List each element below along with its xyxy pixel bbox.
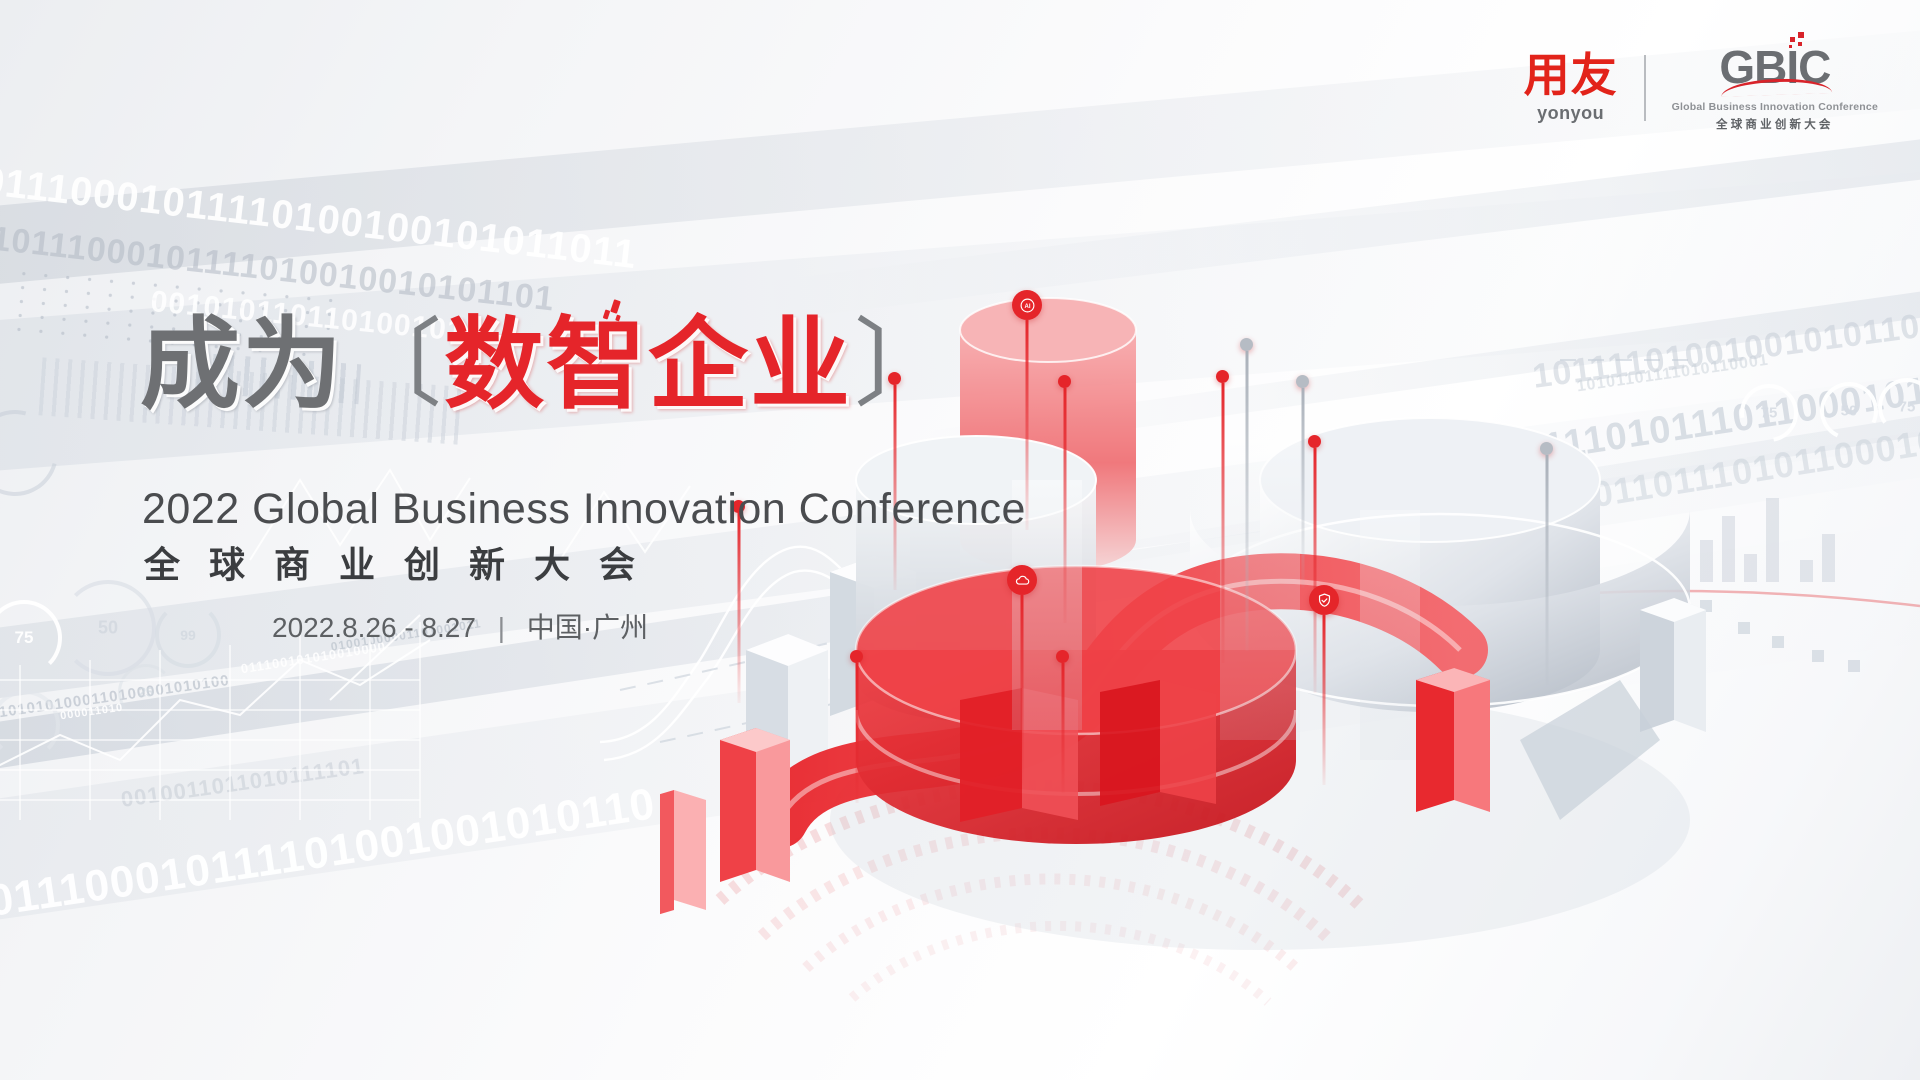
hero-illustration: AI [660, 180, 1920, 1000]
pin-marker-dot[interactable] [850, 650, 863, 663]
dot-marker-icon [1216, 370, 1229, 383]
dot-marker-icon [1240, 338, 1253, 351]
red-bar-right [1416, 668, 1490, 812]
dot-marker-icon [1056, 650, 1069, 663]
dot-marker-icon [1540, 442, 1553, 455]
cloud-icon [1007, 565, 1037, 595]
gauge-value: 75 [15, 628, 34, 648]
red-bar-cluster [660, 728, 790, 920]
meta-divider: | [498, 612, 505, 643]
gbic-pixel-dots-icon [1782, 32, 1804, 52]
pin-marker-dot[interactable] [1296, 375, 1309, 388]
bracket-open: 〔 [346, 315, 442, 415]
gbic-tagline-en: Global Business Innovation Conference [1672, 101, 1878, 113]
pin-marker-dot[interactable] [1308, 435, 1321, 448]
binary-stream: 000011010 [59, 702, 124, 723]
gauge-ring: 50 [60, 580, 156, 676]
ai-badge-icon: AI [1012, 290, 1042, 320]
gauge-ring: 25 [118, 664, 174, 720]
svg-text:AI: AI [1024, 303, 1030, 309]
binary-stream: 0010011011010111101 [119, 753, 366, 813]
dot-marker-icon [1058, 375, 1071, 388]
gbic-wordmark: GBIC [1719, 44, 1830, 90]
pin-marker-cloud[interactable] [1007, 565, 1037, 595]
binary-stream: 0101010101000110100001010100 [0, 672, 231, 725]
pin-marker-dot[interactable] [1058, 375, 1071, 388]
logo-divider [1644, 55, 1646, 121]
pin-marker-dot[interactable] [1540, 442, 1553, 455]
hero-headline: 成为 〔 数智企业 〕 [140, 315, 952, 415]
gauge-ring [0, 394, 74, 511]
gbic-logo[interactable]: GBIC Global Business Innovation Conferen… [1672, 44, 1878, 132]
gauge-value: 25 [139, 685, 153, 700]
binary-stream: 01110001011110100100101011011 [0, 159, 639, 278]
yonyou-logo-cn: 用友 [1524, 52, 1618, 98]
headline-keyword: 数智企业 [444, 315, 852, 415]
gauge-ring: 99 [155, 602, 221, 668]
pin-marker-dot[interactable] [1240, 338, 1253, 351]
bracket-close: 〕 [854, 315, 950, 415]
logo-lockup[interactable]: 用友 yonyou GBIC Global Business Innovatio… [1524, 44, 1878, 132]
binary-stream: 1011100010111101001001010110 [0, 779, 659, 931]
event-meta: 2022.8.26 - 8.27 | 中国·广州 [272, 606, 648, 646]
event-location: 中国·广州 [527, 612, 648, 643]
sparkle-accent-icon [598, 300, 624, 326]
binary-stream: 10111000101111010010010101101 [0, 220, 557, 320]
headline-prefix: 成为 [140, 315, 344, 415]
isometric-data-graphic [660, 180, 1920, 1000]
gauge-value: 99 [180, 627, 196, 643]
pin-marker-dot[interactable] [1216, 370, 1229, 383]
gauge-ring [0, 690, 60, 760]
subtitle-english: 2022 Global Business Innovation Conferen… [142, 485, 1026, 534]
gauge-value: 50 [98, 618, 118, 639]
dot-marker-icon [850, 650, 863, 663]
pin-marker-dot[interactable] [1056, 650, 1069, 663]
gbic-tagline-cn: 全球商业创新大会 [1716, 116, 1834, 132]
yonyou-logo[interactable]: 用友 yonyou [1524, 52, 1618, 124]
event-date: 2022.8.26 - 8.27 [272, 612, 476, 643]
subtitle-chinese: 全球商业创新大会 [144, 536, 664, 588]
banner-canvas: 01110001011110100100101011011 1011100010… [0, 0, 1920, 1080]
yonyou-logo-en: yonyou [1537, 103, 1604, 124]
gauge-ring: 75 [0, 600, 62, 676]
pin-marker-ai[interactable]: AI [1012, 290, 1042, 320]
dot-marker-icon [1296, 375, 1309, 388]
gray-block-right [1640, 598, 1706, 732]
dot-marker-icon [1308, 435, 1321, 448]
